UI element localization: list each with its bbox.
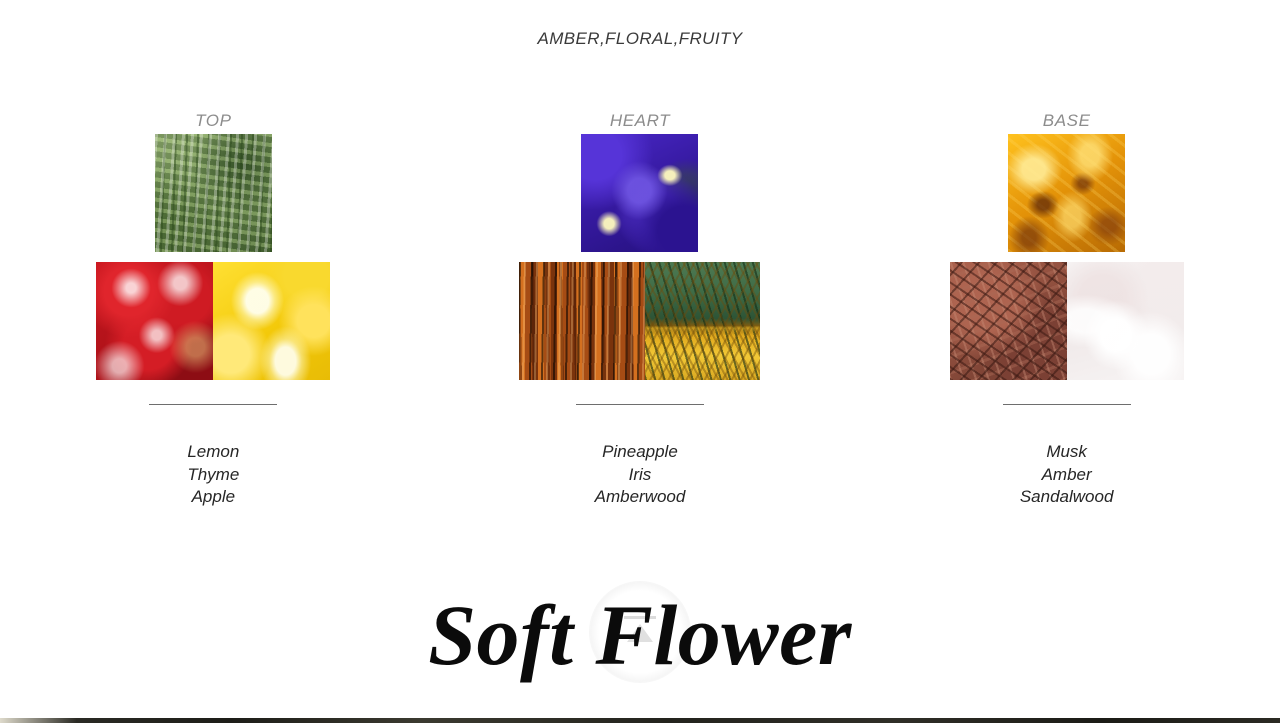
note-list-base: Musk Amber Sandalwood (1020, 441, 1114, 509)
column-title-heart: HEART (610, 108, 670, 134)
brand-area: Soft Flower (0, 565, 1280, 705)
note-pyramid-columns: TOP Lemon Thyme Apple HEART (0, 108, 1280, 509)
brand-title: Soft Flower (0, 565, 1280, 705)
accord-family-heading: AMBER,FLORAL,FRUITY (0, 29, 1280, 49)
tile-row-apex-base (1008, 134, 1125, 252)
pineapples-image (645, 262, 760, 380)
bark-texture-image (519, 262, 645, 380)
divider-heart (576, 404, 704, 405)
column-title-top: TOP (195, 108, 231, 134)
note-item: Apple (187, 486, 239, 509)
pyramid-base (950, 134, 1184, 380)
musk-cloud-image (1067, 262, 1184, 380)
note-item: Pineapple (595, 441, 686, 464)
pyramid-top (96, 134, 330, 380)
bottom-edge-strip (0, 718, 1280, 723)
pyramid-heart (519, 134, 760, 380)
tile-row-apex-top (155, 134, 272, 252)
note-list-heart: Pineapple Iris Amberwood (595, 441, 686, 509)
tile-row-base-top (96, 262, 330, 380)
note-item: Iris (595, 464, 686, 487)
note-item: Thyme (187, 464, 239, 487)
thyme-herb-image (155, 134, 272, 252)
note-item: Sandalwood (1020, 486, 1114, 509)
note-list-top: Lemon Thyme Apple (187, 441, 239, 509)
note-item: Amber (1020, 464, 1114, 487)
note-item: Musk (1020, 441, 1114, 464)
sandalwood-chips-image (950, 262, 1067, 380)
amber-resin-image (1008, 134, 1125, 252)
note-item: Amberwood (595, 486, 686, 509)
lemons-image (213, 262, 330, 380)
note-column-base: BASE Musk Amber Sandalwood (853, 108, 1280, 509)
tile-row-apex-heart (581, 134, 698, 252)
divider-top (149, 404, 277, 405)
tile-row-base-heart (519, 262, 760, 380)
note-column-top: TOP Lemon Thyme Apple (0, 108, 427, 509)
red-apples-image (96, 262, 213, 380)
divider-base (1003, 404, 1131, 405)
iris-flowers-image (581, 134, 698, 252)
tile-row-base-base (950, 262, 1184, 380)
note-column-heart: HEART Pineapple Iris Amberwood (427, 108, 854, 509)
note-item: Lemon (187, 441, 239, 464)
column-title-base: BASE (1043, 108, 1091, 134)
